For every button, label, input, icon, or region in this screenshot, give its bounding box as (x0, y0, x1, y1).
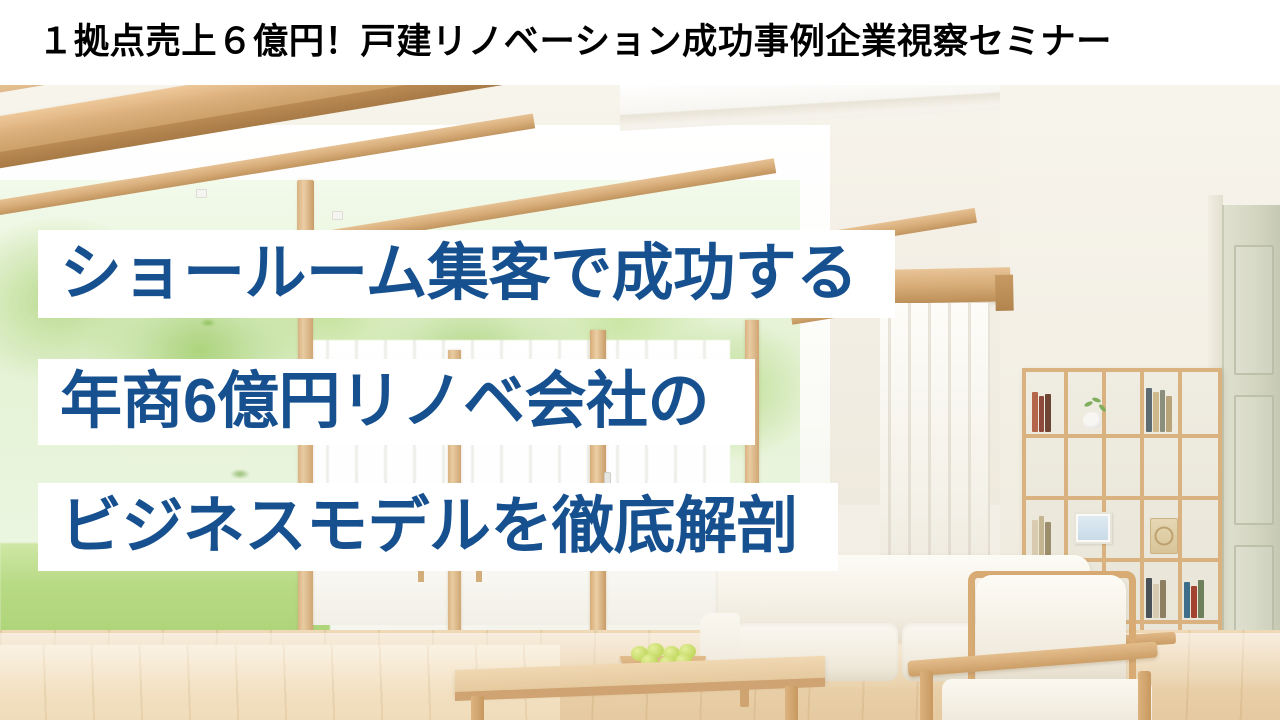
title-line-3: ビジネスモデルを徹底解剖 (60, 496, 798, 558)
title-line-2: 年商6億円リノベ会社の (60, 371, 709, 433)
header-bar: １拠点売上６億円！戸建リノベーション成功事例企業視察セミナー (0, 0, 1280, 85)
beam-end-cap (995, 275, 1014, 311)
title-band-2: 年商6億円リノベ会社の (38, 359, 755, 445)
title-line-1: ショールーム集客で成功する (60, 243, 858, 305)
chair-seat-cushion (942, 679, 1152, 720)
wooden-armchair (890, 575, 1220, 720)
seminar-header-title: １拠点売上６億円！戸建リノベーション成功事例企業視察セミナー (38, 19, 1276, 63)
title-band-3: ビジネスモデルを徹底解剖 (38, 483, 838, 571)
beam-clip (332, 211, 343, 220)
panel-door (1222, 205, 1280, 645)
beam-clip (196, 189, 207, 198)
title-band-1: ショールーム集客で成功する (38, 230, 895, 318)
coffee-table (455, 670, 825, 720)
seminar-title-slide: １拠点売上６億円！戸建リノベーション成功事例企業視察セミナー ショールーム集客で… (0, 0, 1280, 720)
